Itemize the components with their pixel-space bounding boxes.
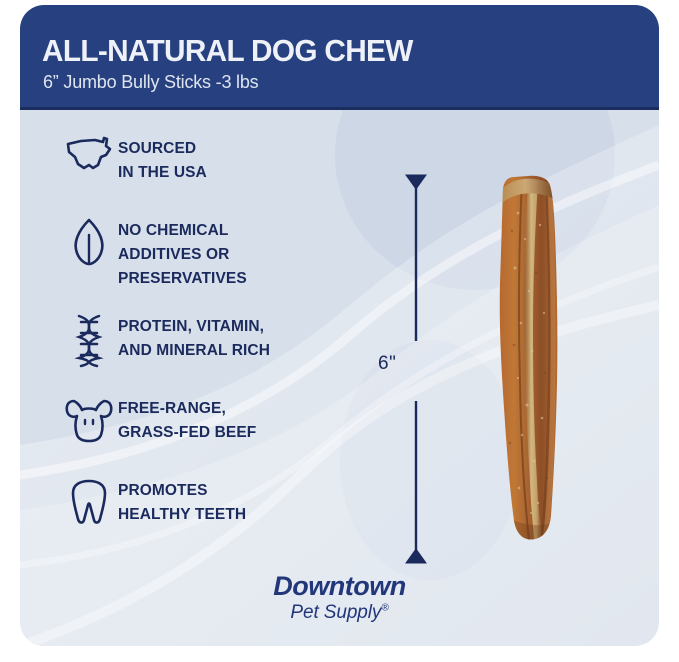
product-subtitle: 6” Jumbo Bully Sticks -3 lbs <box>43 72 258 93</box>
dna-helix-icon <box>60 311 118 369</box>
leaf-icon <box>60 215 118 269</box>
feature-list: SOURCED IN THE USA NO CHEMICAL ADDITIVES… <box>60 133 350 557</box>
header-band: ALL-NATURAL DOG CHEW 6” Jumbo Bully Stic… <box>20 5 659 110</box>
feature-label: SOURCED IN THE USA <box>118 133 350 185</box>
feature-item-healthy-teeth: PROMOTES HEALTHY TEETH <box>60 475 350 537</box>
brand-logo: Downtown Pet Supply® <box>20 573 659 622</box>
registered-trademark-symbol: ® <box>381 603 388 614</box>
feature-item-no-chemicals: NO CHEMICAL ADDITIVES OR PRESERVATIVES <box>60 215 350 291</box>
bully-stick-photo <box>488 173 574 545</box>
feature-label: NO CHEMICAL ADDITIVES OR PRESERVATIVES <box>118 215 350 291</box>
feature-label: PROMOTES HEALTHY TEETH <box>118 475 350 527</box>
tooth-icon <box>60 475 118 527</box>
page-title: ALL-NATURAL DOG CHEW <box>42 33 413 69</box>
cow-head-icon <box>60 393 118 443</box>
brand-name: Downtown <box>20 573 659 600</box>
infographic-card: ALL-NATURAL DOG CHEW 6” Jumbo Bully Stic… <box>20 5 659 646</box>
dimension-label: 6" <box>378 353 396 375</box>
usa-map-icon <box>60 133 118 175</box>
feature-item-protein-rich: PROTEIN, VITAMIN, AND MINERAL RICH <box>60 311 350 373</box>
brand-tagline: Pet Supply® <box>20 603 659 622</box>
feature-label: PROTEIN, VITAMIN, AND MINERAL RICH <box>118 311 350 363</box>
brand-tagline-text: Pet Supply <box>290 602 381 623</box>
feature-label: FREE-RANGE, GRASS-FED BEEF <box>118 393 350 445</box>
feature-item-sourced-usa: SOURCED IN THE USA <box>60 133 350 195</box>
feature-item-grass-fed-beef: FREE-RANGE, GRASS-FED BEEF <box>60 393 350 455</box>
